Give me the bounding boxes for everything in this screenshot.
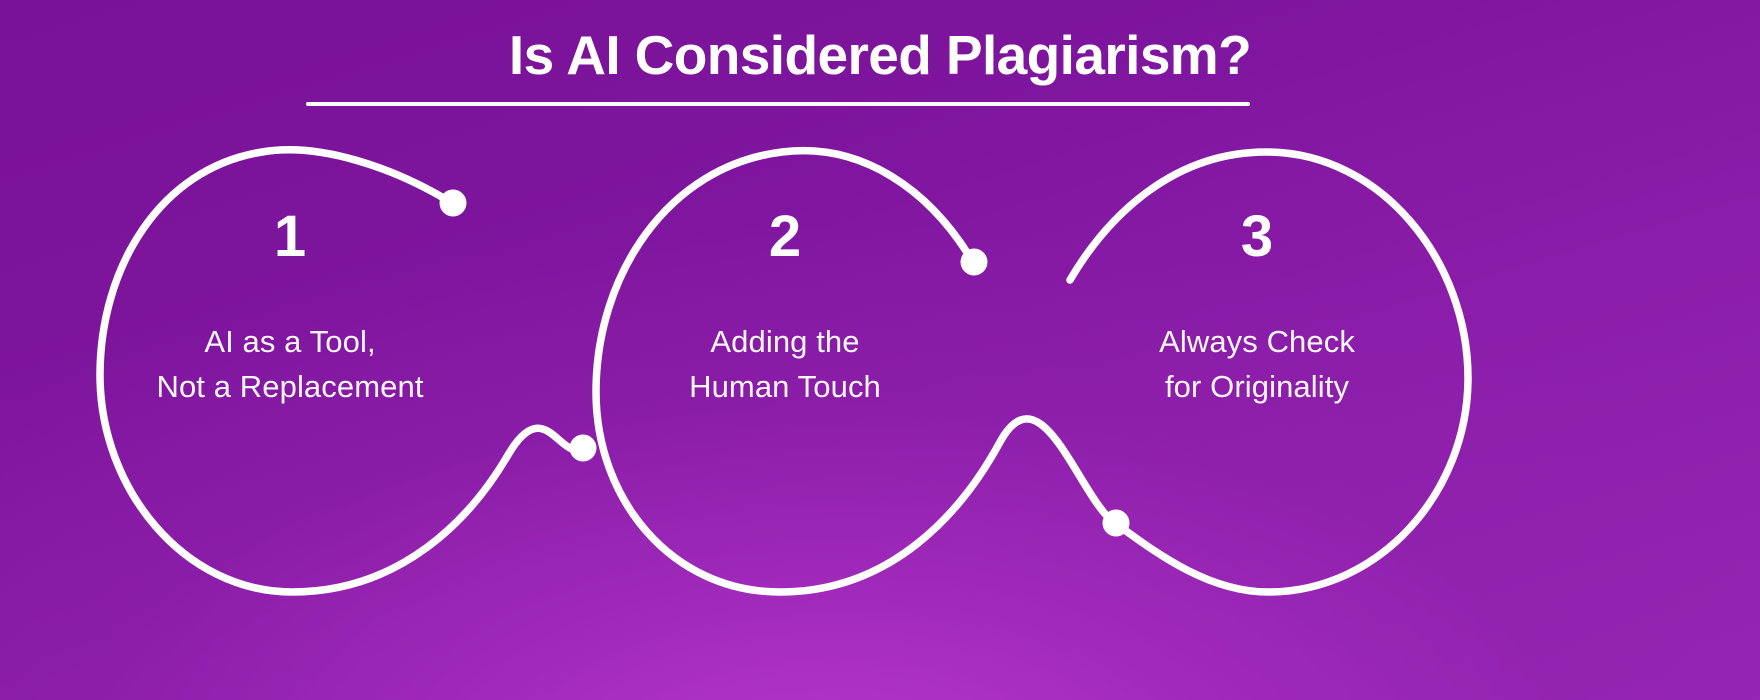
step-item-1: 1 AI as a Tool, Not a Replacement: [90, 205, 490, 409]
step-text-line-1: AI as a Tool,: [90, 319, 490, 364]
step-number-2: 2: [585, 205, 985, 269]
step-text-2: Adding the Human Touch: [585, 319, 985, 409]
infographic-canvas: Is AI Considered Plagiarism? 1 AI as a T…: [0, 0, 1760, 700]
step-number-3: 3: [1057, 205, 1457, 269]
step-text-line-1: Always Check: [1057, 319, 1457, 364]
step-text-line-2: Not a Replacement: [90, 364, 490, 409]
swirl-endpoint-dot-2: [570, 435, 597, 462]
step-text-1: AI as a Tool, Not a Replacement: [90, 319, 490, 409]
title-underline-rule: [306, 102, 1250, 106]
page-title: Is AI Considered Plagiarism?: [509, 24, 1251, 86]
swirl-endpoint-dot-4: [1103, 510, 1130, 537]
step-text-line-1: Adding the: [585, 319, 985, 364]
step-text-3: Always Check for Originality: [1057, 319, 1457, 409]
step-number-1: 1: [90, 205, 490, 269]
step-item-2: 2 Adding the Human Touch: [585, 205, 985, 409]
step-text-line-2: Human Touch: [585, 364, 985, 409]
step-item-3: 3 Always Check for Originality: [1057, 205, 1457, 409]
step-text-line-2: for Originality: [1057, 364, 1457, 409]
title-block: Is AI Considered Plagiarism?: [0, 24, 1760, 86]
